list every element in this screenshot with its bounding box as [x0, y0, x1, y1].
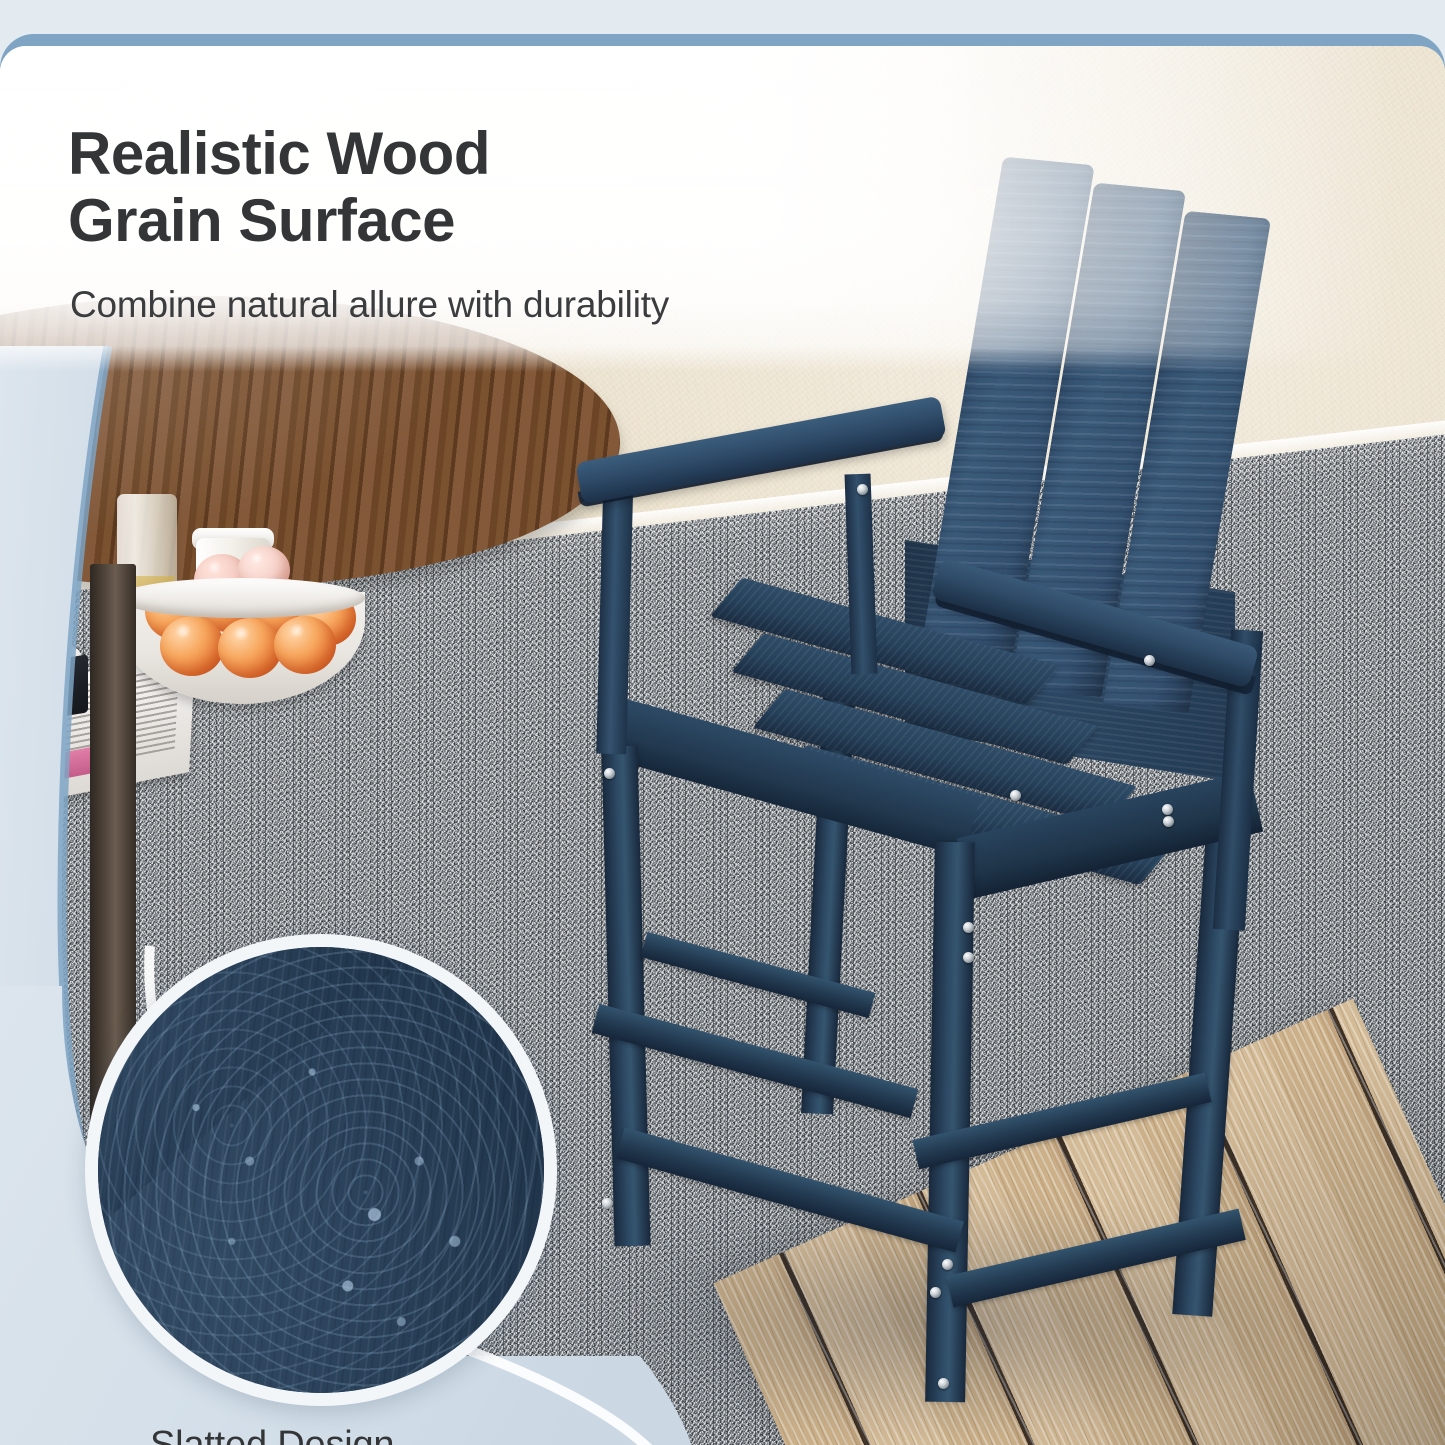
screw-head	[963, 952, 974, 963]
page-title: Realistic Wood Grain Surface	[68, 120, 888, 254]
armrest-support-post-mid	[845, 474, 878, 675]
screw-head	[604, 768, 615, 779]
headline-line-1: Realistic Wood	[68, 120, 888, 187]
detail-closeup-circle	[85, 934, 557, 1406]
screw-head	[938, 1378, 949, 1389]
water-droplets	[98, 947, 544, 1393]
screw-head	[963, 922, 974, 933]
screw-head	[1162, 804, 1173, 815]
screw-head	[1144, 655, 1155, 666]
screw-head	[930, 1287, 941, 1298]
screw-head	[602, 1198, 613, 1209]
product-marketing-image: Slatted Design Realistic Wood Grain Surf…	[0, 0, 1445, 1445]
headline-line-2: Grain Surface	[68, 187, 888, 254]
chair-leg-front-left	[601, 746, 650, 1247]
detail-circle-photo	[98, 947, 544, 1393]
screw-head	[857, 484, 868, 495]
detail-caption-label: Slatted Design	[150, 1424, 394, 1445]
screw-head	[942, 1259, 953, 1270]
bottom-stretcher-left	[616, 1128, 964, 1253]
screw-head	[1163, 816, 1174, 827]
screw-head	[1010, 790, 1021, 801]
product-photo: Slatted Design Realistic Wood Grain Surf…	[0, 46, 1445, 1445]
page-subtitle: Combine natural allure with durability	[70, 284, 970, 326]
photo-card-border: Slatted Design Realistic Wood Grain Surf…	[0, 34, 1445, 1445]
